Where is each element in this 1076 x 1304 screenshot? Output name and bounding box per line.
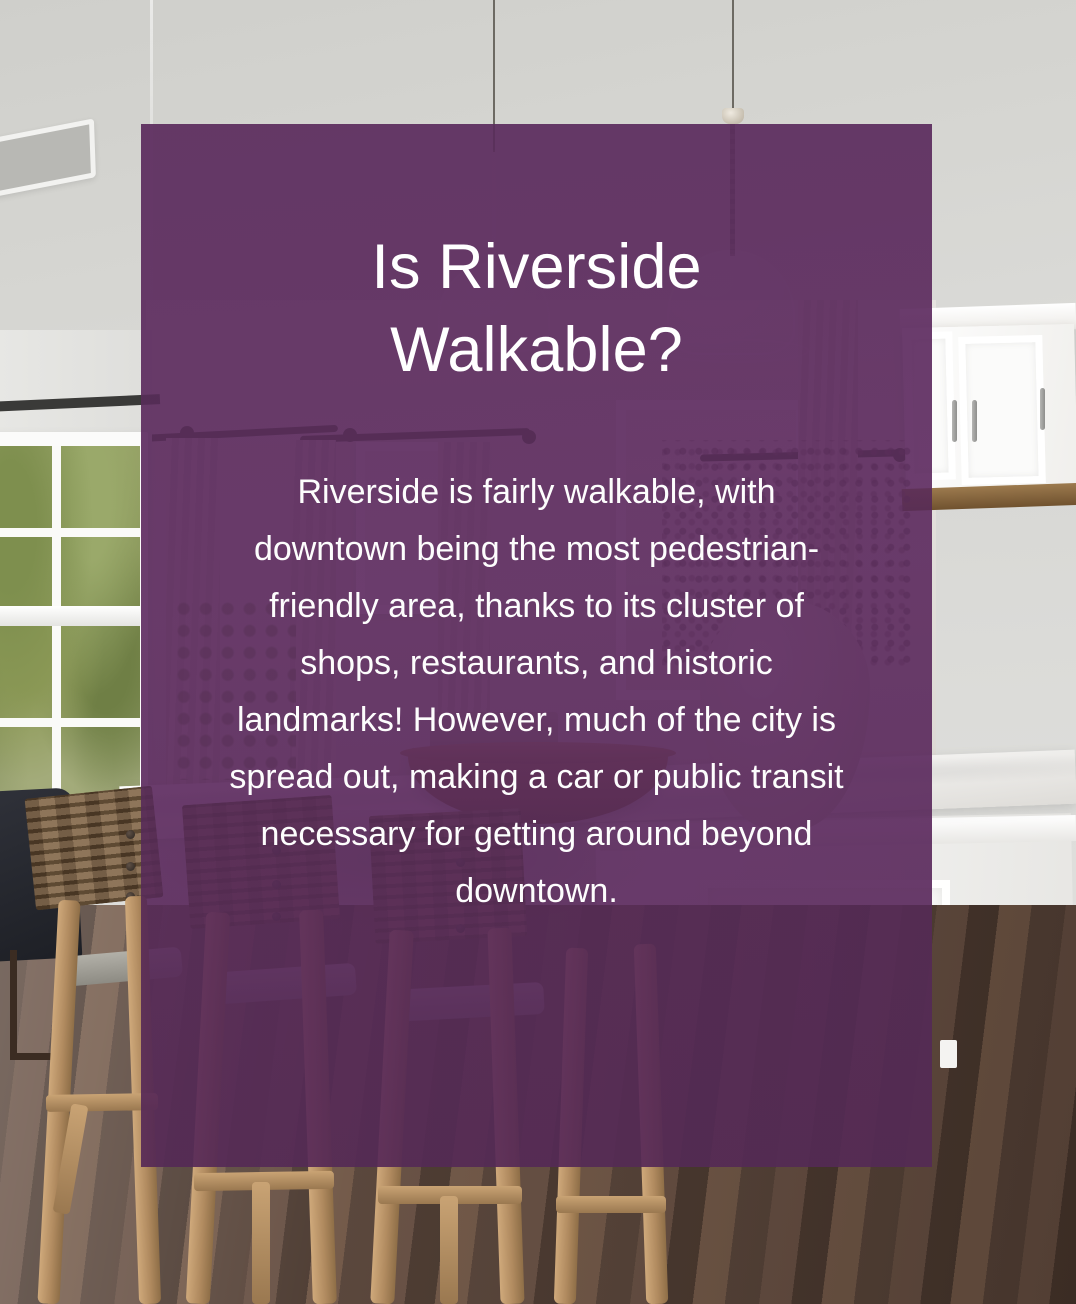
window-mullion	[0, 718, 140, 727]
window-mullion	[0, 528, 140, 537]
upholstery-stud	[126, 830, 135, 839]
card-content: Is Riverside Walkable? Riverside is fair…	[141, 124, 932, 1167]
body-paragraph: Riverside is fairly walkable, with downt…	[223, 464, 851, 920]
stool-brace	[440, 1196, 458, 1304]
wall-outlet	[940, 1040, 957, 1068]
pendant-cord	[732, 0, 734, 110]
window-sash-rail	[0, 606, 140, 626]
cabinet-pull-handle	[1040, 388, 1045, 430]
pendant-canopy	[722, 108, 744, 124]
page-title: Is Riverside Walkable?	[302, 226, 772, 392]
poster-canvas: Is Riverside Walkable? Riverside is fair…	[0, 0, 1076, 1304]
stool-brace	[252, 1182, 270, 1304]
cabinet-pull-handle	[952, 400, 957, 442]
window-mullion	[52, 446, 61, 846]
upholstery-stud	[126, 862, 135, 871]
stool-footrail	[556, 1196, 666, 1213]
cabinet-pull-handle	[972, 400, 977, 442]
